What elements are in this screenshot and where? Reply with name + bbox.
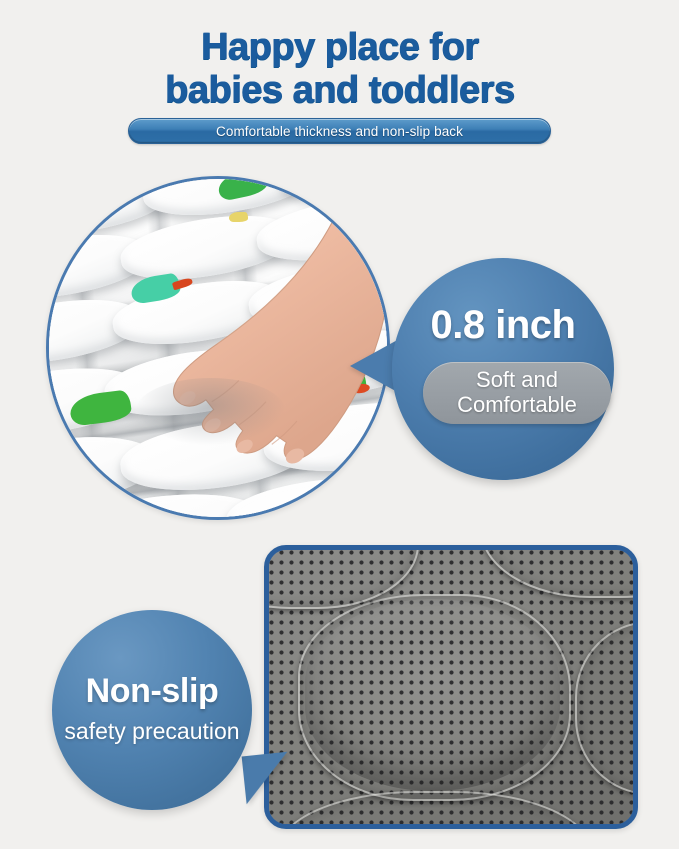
hand-illustration	[51, 181, 384, 514]
thickness-callout-bubble: 0.8 inch Soft and Comfortable	[392, 258, 614, 480]
soft-badge-line-2: Comfortable	[457, 392, 577, 417]
bubble-tail-right	[242, 752, 293, 805]
press-depression-shadow	[135, 378, 286, 446]
non-slip-callout-bubble: Non-slip safety precaution	[52, 610, 252, 810]
subtitle-banner: Comfortable thickness and non-slip back	[128, 118, 551, 144]
non-slip-backing-photo	[264, 545, 638, 829]
thickness-value: 0.8 inch	[392, 303, 614, 348]
page-title: Happy place for babies and toddlers	[0, 26, 679, 111]
center-puff-shading	[305, 599, 560, 791]
headline-line-2: babies and toddlers	[0, 69, 679, 112]
soft-comfortable-badge: Soft and Comfortable	[423, 362, 611, 424]
non-slip-title: Non-slip	[52, 672, 252, 711]
mattress-thickness-photo	[46, 176, 390, 520]
soft-badge-line-1: Soft and	[476, 367, 558, 392]
subtitle-banner-label: Comfortable thickness and non-slip back	[216, 124, 463, 139]
quilted-fabric-texture	[46, 176, 390, 520]
non-slip-subtitle: safety precaution	[48, 718, 256, 745]
headline-line-1: Happy place for	[201, 26, 479, 68]
